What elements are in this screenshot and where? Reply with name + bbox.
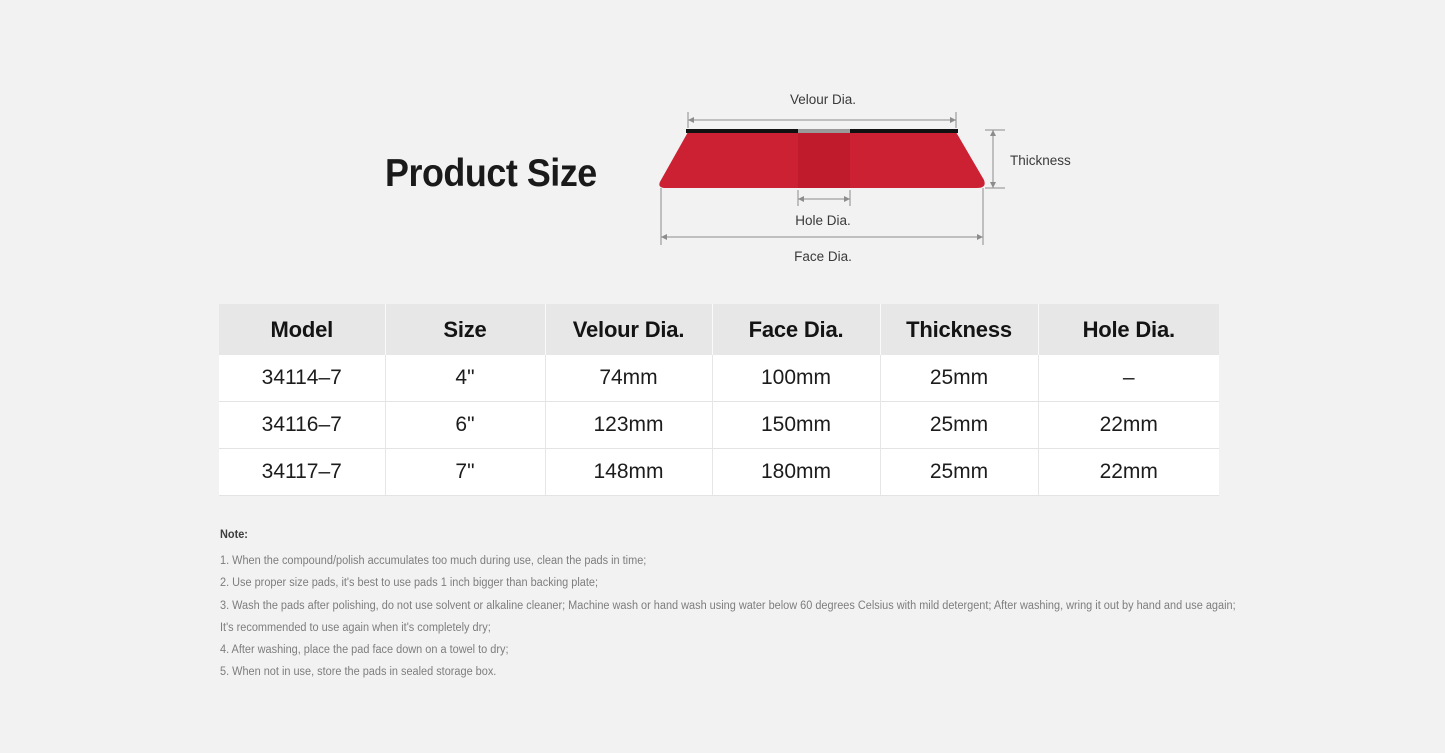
note-item-3: 3. Wash the pads after polishing, do not… [220, 595, 1170, 617]
table-row: 34117–7 7" 148mm 180mm 25mm 22mm [219, 449, 1219, 496]
cell-hole: – [1038, 355, 1219, 402]
cell-thickness: 25mm [880, 355, 1038, 402]
column-header-hole: Hole Dia. [1038, 304, 1219, 355]
note-item-2: 2. Use proper size pads, it's best to us… [220, 572, 1170, 594]
cell-model: 34114–7 [219, 355, 385, 402]
table-row: 34114–7 4" 74mm 100mm 25mm – [219, 355, 1219, 402]
product-size-table: Model Size Velour Dia. Face Dia. Thickne… [219, 304, 1219, 496]
notes-section: Note: 1. When the compound/polish accumu… [220, 529, 1220, 684]
cell-velour: 74mm [545, 355, 712, 402]
cell-hole: 22mm [1038, 449, 1219, 496]
face-dia-label: Face Dia. [794, 249, 852, 264]
polishing-pad-shape [659, 129, 984, 188]
table-header-row: Model Size Velour Dia. Face Dia. Thickne… [219, 304, 1219, 355]
velour-dimension-line [688, 112, 956, 128]
product-size-page: Product Size Velour Dia. [0, 0, 1445, 753]
column-header-size: Size [385, 304, 545, 355]
cell-size: 6" [385, 402, 545, 449]
note-item-1: 1. When the compound/polish accumulates … [220, 550, 1170, 572]
column-header-model: Model [219, 304, 385, 355]
cell-face: 100mm [712, 355, 880, 402]
cell-face: 180mm [712, 449, 880, 496]
page-title: Product Size [385, 152, 597, 196]
pad-cross-section-diagram: Velour Dia. [640, 80, 1080, 270]
thickness-dimension-line [985, 130, 1005, 188]
cell-thickness: 25mm [880, 449, 1038, 496]
column-header-thickness: Thickness [880, 304, 1038, 355]
column-header-velour: Velour Dia. [545, 304, 712, 355]
note-item-5: 5. When not in use, store the pads in se… [220, 661, 1170, 683]
thickness-label: Thickness [1010, 153, 1071, 168]
cell-velour: 148mm [545, 449, 712, 496]
cell-hole: 22mm [1038, 402, 1219, 449]
velour-dia-label: Velour Dia. [790, 92, 856, 107]
column-header-face: Face Dia. [712, 304, 880, 355]
cell-velour: 123mm [545, 402, 712, 449]
cell-size: 7" [385, 449, 545, 496]
table-row: 34116–7 6" 123mm 150mm 25mm 22mm [219, 402, 1219, 449]
note-item-4: 4. After washing, place the pad face dow… [220, 639, 1170, 661]
cell-model: 34116–7 [219, 402, 385, 449]
cell-size: 4" [385, 355, 545, 402]
note-item-3-continued: It's recommended to use again when it's … [220, 617, 1170, 639]
cell-face: 150mm [712, 402, 880, 449]
hole-dia-label: Hole Dia. [795, 213, 851, 228]
cell-model: 34117–7 [219, 449, 385, 496]
notes-title: Note: [220, 529, 1170, 541]
cell-thickness: 25mm [880, 402, 1038, 449]
hole-dimension-line [798, 190, 850, 206]
